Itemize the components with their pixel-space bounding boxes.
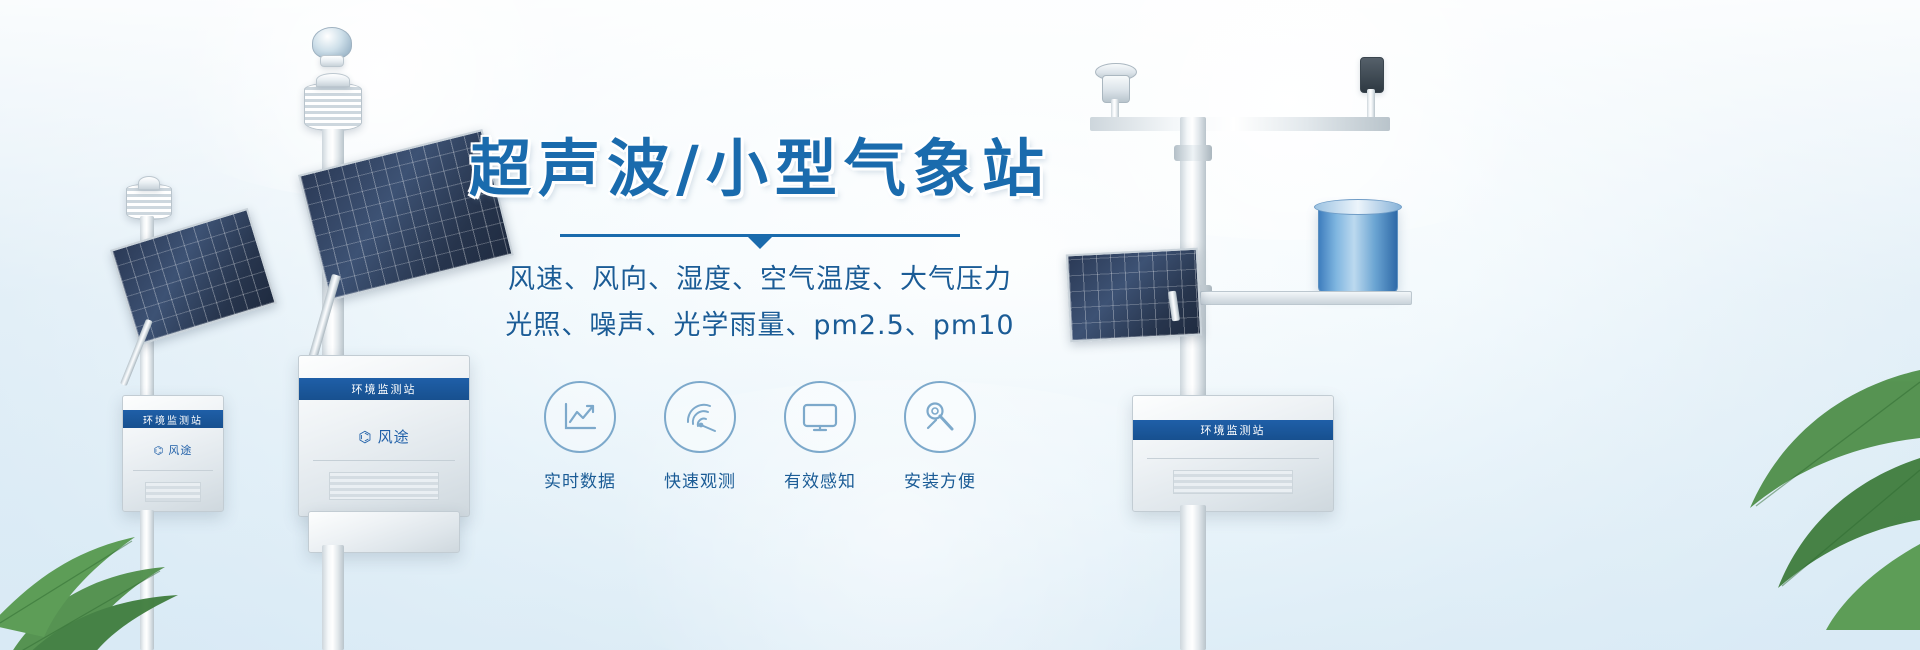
box-vent [145,482,201,502]
feature-icon-circle [784,381,856,453]
rain-gauge-icon [1318,205,1398,293]
feature-label: 有效感知 [784,467,856,492]
feature-label: 快速观测 [664,467,736,492]
main-mast-lower [1180,505,1206,650]
optical-rain-sensor-icon [1360,57,1384,93]
feature-item-easy-install[interactable]: 安装方便 [904,381,976,492]
feature-label: 实时数据 [544,467,616,492]
mounting-shelf [1200,291,1412,305]
solar-panel [110,208,277,346]
anemometer-head [320,55,344,67]
subtitle-line-2: 光照、噪声、光学雨量、pm2.5、pm10 [505,305,1014,347]
page-title: 超声波/小型气象站 [469,118,1051,208]
box-seam [133,470,213,471]
triangle-down-icon [747,236,773,249]
brand-mark-icon: ⌬ [154,445,165,457]
brand-mark-icon: ⌬ [358,429,372,446]
radiation-shield-icon [304,83,362,131]
rain-gauge-rim [1314,199,1402,215]
feature-icon-circle [544,381,616,453]
feature-label: 安装方便 [904,467,976,492]
enclosure-box: 环境监测站 ⌬ 风途 [122,395,224,512]
feature-list: 实时数据 快速观测 [544,381,976,492]
crossarm [1090,117,1390,131]
radar-signal-icon [682,400,718,434]
left-small-station: 环境监测站 ⌬ 风途 [100,170,280,650]
mast-collar [1174,145,1212,161]
line-chart-icon [562,401,598,433]
shield-cap [316,73,350,87]
banner-content: 超声波/小型气象站 风速、风向、湿度、空气温度、大气压力 光照、噪声、光学雨量、… [440,0,1080,650]
device-label-strip: 环境监测站 [123,410,223,428]
mast-pole-lower [140,510,154,650]
solar-panel-array [1066,248,1202,343]
device-label-strip: 环境监测站 [1133,420,1333,440]
cabinet-door-seam [313,460,455,461]
subtitle-line-1: 风速、风向、湿度、空气温度、大气压力 [508,259,1012,301]
feature-item-fast-observation[interactable]: 快速观测 [664,381,736,492]
box-vent [1173,470,1293,494]
feature-item-effective-sensing[interactable]: 有效感知 [784,381,856,492]
title-divider [560,234,960,237]
right-station: 环境监测站 [1060,55,1440,650]
feature-icon-circle [904,381,976,453]
mast-pole-lower [322,545,344,650]
cabinet-vent [329,472,439,500]
feature-icon-circle [664,381,736,453]
sensor-head [138,176,160,190]
box-seam [1147,458,1319,459]
brand-text: 风途 [378,429,410,446]
product-banner: 环境监测站 ⌬ 风途 环境监测站 ⌬ 风途 [0,0,1920,650]
wrench-icon [922,400,958,434]
feature-item-realtime-data[interactable]: 实时数据 [544,381,616,492]
leaf-decoration-right [1590,330,1920,630]
monitor-icon [801,401,839,433]
device-brand: ⌬ 风途 [123,442,223,458]
enclosure-box: 环境监测站 [1132,395,1334,512]
brand-text: 风途 [168,445,192,457]
